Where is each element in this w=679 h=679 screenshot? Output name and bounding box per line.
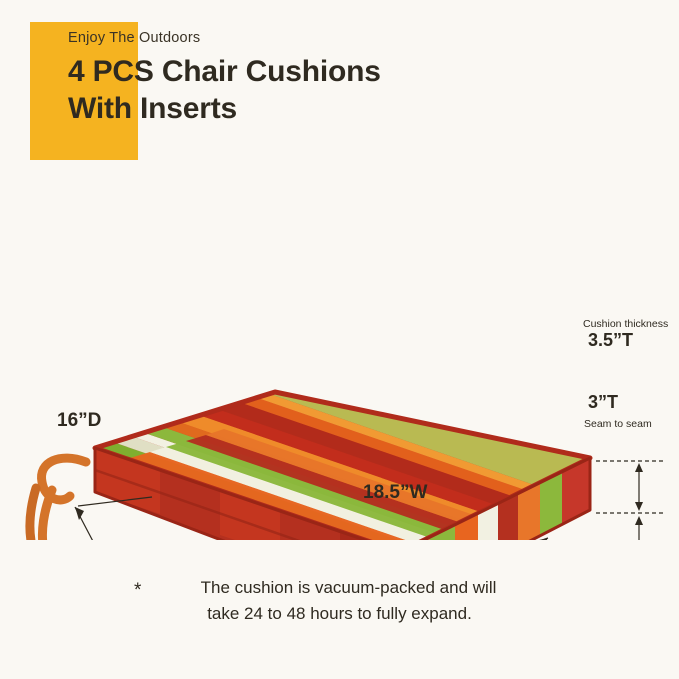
footnote-asterisk: * — [134, 577, 141, 606]
eyebrow-text: Enjoy The Outdoors — [68, 30, 588, 46]
page-title-line-1: 4 PCS Chair Cushions — [68, 55, 381, 88]
footnote-block: * The cushion is vacuum-packed and will … — [0, 575, 679, 626]
width-label: 18.5”W — [363, 482, 427, 504]
cushion-tie-straps — [30, 458, 86, 540]
depth-label: 16”D — [57, 410, 101, 432]
thickness-caption: Cushion thickness — [583, 318, 668, 330]
cushion-illustration: 16”D 18.5”W Cushion thickness 3.5”T 3”T … — [0, 170, 679, 540]
thickness-label: 3.5”T — [588, 330, 633, 351]
page-title-line-2: With Inserts — [68, 92, 237, 125]
product-infographic-page: Enjoy The Outdoors 4 PCS Chair Cushions … — [0, 0, 679, 679]
seam-caption: Seam to seam — [584, 418, 652, 430]
header-text-block: Enjoy The Outdoors 4 PCS Chair Cushions … — [68, 30, 588, 127]
footnote-line-2: take 24 to 48 hours to fully expand. — [0, 601, 679, 627]
page-title: 4 PCS Chair Cushions With Inserts — [68, 54, 588, 127]
seam-label: 3”T — [588, 392, 618, 413]
footnote-line-1: The cushion is vacuum-packed and will — [0, 575, 679, 601]
